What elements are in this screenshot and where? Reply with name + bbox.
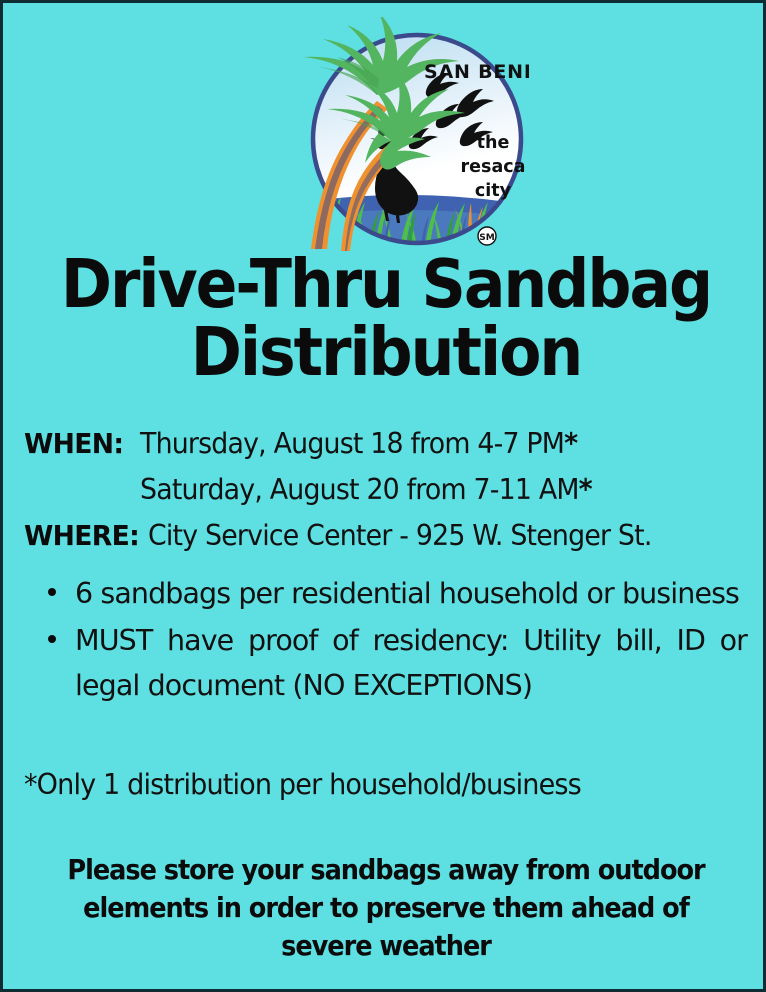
- logo-area: SAN BENITO the resaca city SM: [3, 17, 766, 262]
- logo-tagline-line1: the: [477, 133, 510, 153]
- when-value-2-asterisk: *: [579, 473, 592, 506]
- list-item-text: 6 sandbags per residential household or …: [75, 571, 747, 616]
- list-item: 6 sandbags per residential household or …: [3, 571, 766, 616]
- requirements-list: 6 sandbags per residential household or …: [3, 571, 766, 710]
- logo-city-name: SAN BENITO: [424, 61, 529, 83]
- when-value-1: Thursday, August 18 from 4-7 PM*: [140, 427, 577, 460]
- title-line-2: Distribution: [34, 318, 739, 386]
- bullet-dot-icon: [48, 635, 56, 643]
- closing-line-2: elements in order to preserve them ahead…: [43, 889, 729, 927]
- san-benito-city-logo: SAN BENITO the resaca city SM: [199, 17, 529, 262]
- footnote-text: *Only 1 distribution per household/busin…: [24, 768, 732, 801]
- page-title: Drive-Thru Sandbag Distribution: [3, 250, 766, 386]
- logo-tagline-line2: resaca: [461, 157, 526, 177]
- when-row-1: WHEN: Thursday, August 18 from 4-7 PM*: [3, 427, 766, 473]
- where-label: WHERE:: [24, 519, 142, 552]
- sandbag-distribution-flyer: SAN BENITO the resaca city SM Drive-Thru…: [0, 0, 766, 992]
- title-line-1: Drive-Thru Sandbag: [34, 250, 739, 318]
- service-mark-icon: SM: [478, 227, 496, 245]
- when-value-2-text: Saturday, August 20 from 7-11 AM: [140, 473, 579, 506]
- when-value-1-asterisk: *: [564, 427, 577, 460]
- where-value: City Service Center - 925 W. Stenger St.: [148, 519, 652, 552]
- svg-text:SM: SM: [479, 233, 494, 243]
- closing-line-1: Please store your sandbags away from out…: [43, 851, 729, 889]
- list-item-text: MUST have proof of residency: Utility bi…: [75, 618, 747, 708]
- logo-tagline-line3: city: [475, 181, 512, 201]
- when-label: WHEN:: [24, 427, 134, 460]
- event-details: WHEN: Thursday, August 18 from 4-7 PM* S…: [3, 427, 766, 565]
- when-row-2: Saturday, August 20 from 7-11 AM*: [3, 473, 766, 519]
- footnote: *Only 1 distribution per household/busin…: [3, 768, 766, 801]
- closing-line-3: severe weather: [43, 927, 729, 965]
- when-value-2: Saturday, August 20 from 7-11 AM*: [140, 473, 592, 506]
- when-value-1-text: Thursday, August 18 from 4-7 PM: [140, 427, 564, 460]
- where-row: WHERE: City Service Center - 925 W. Sten…: [3, 519, 766, 565]
- list-item: MUST have proof of residency: Utility bi…: [3, 618, 766, 708]
- bullet-dot-icon: [48, 588, 56, 596]
- closing-message: Please store your sandbags away from out…: [3, 851, 766, 965]
